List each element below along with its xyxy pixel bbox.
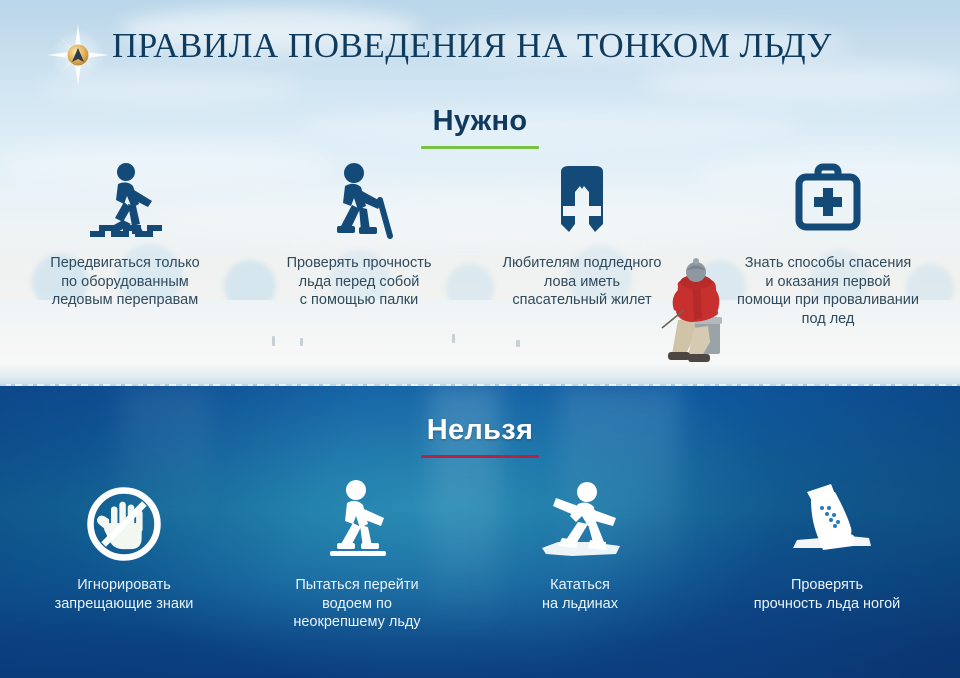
person-walking-thin-ice-icon xyxy=(314,478,400,564)
caption-line: Передвигаться только xyxy=(50,254,199,273)
caption-line: Проверять прочность xyxy=(287,254,432,273)
allowed-item-3-caption: Любителям подледного лова иметь спасател… xyxy=(503,254,662,310)
forbidden-item-3: Кататься на льдинах xyxy=(466,478,694,632)
forbidden-item-1-caption: Игнорировать запрещающие знаки xyxy=(55,576,194,613)
first-aid-kit-icon xyxy=(785,160,871,242)
forbidden-item-2: Пытаться перейти водоем по неокрепшему л… xyxy=(248,478,466,632)
caption-line: прочность льда ногой xyxy=(754,595,901,614)
allowed-actions-row: Передвигаться только по оборудованным ле… xyxy=(0,160,960,328)
caption-line: Знать способы спасения xyxy=(737,254,919,273)
caption-line: льда перед собой xyxy=(287,273,432,292)
caption-line: спасательный жилет xyxy=(503,291,662,310)
caption-line: помощи при проваливании xyxy=(737,291,919,310)
caption-line: на льдинах xyxy=(542,595,618,614)
caption-line: Любителям подледного xyxy=(503,254,662,273)
ice-edge-decor xyxy=(0,366,960,386)
caption-line: ледовым переправам xyxy=(50,291,199,310)
forbidden-item-4-caption: Проверять прочность льда ногой xyxy=(754,576,901,613)
allowed-item-4: Знать способы спасения и оказания первой… xyxy=(696,160,960,328)
section-heading-nuzhno-label: Нужно xyxy=(433,106,528,142)
caption-line: Пытаться перейти xyxy=(293,576,420,595)
section-heading-nelzya: Нельзя xyxy=(0,415,960,458)
caption-line: запрещающие знаки xyxy=(55,595,194,614)
distant-figure-decor xyxy=(300,338,303,346)
poster-header: ПРАВИЛА ПОВЕДЕНИЯ НА ТОНКОМ ЛЬДУ xyxy=(0,0,960,96)
allowed-item-1: Передвигаться только по оборудованным ле… xyxy=(0,160,250,328)
poster-root: ПРАВИЛА ПОВЕДЕНИЯ НА ТОНКОМ ЛЬДУ Нужно xyxy=(0,0,960,678)
caption-line: Проверять xyxy=(754,576,901,595)
distant-figure-decor xyxy=(272,336,275,346)
forbidden-item-3-caption: Кататься на льдинах xyxy=(542,576,618,613)
forbidden-item-1: Игнорировать запрещающие знаки xyxy=(0,478,248,632)
caption-line: неокрепшему льду xyxy=(293,613,420,632)
caption-line: водоем по xyxy=(293,595,420,614)
person-riding-ice-floe-icon xyxy=(532,478,628,564)
forbidden-actions-row: Игнорировать запрещающие знаки xyxy=(0,478,960,632)
no-entry-hand-icon xyxy=(84,478,164,564)
compass-star-emblem-icon xyxy=(47,24,109,86)
allowed-item-4-caption: Знать способы спасения и оказания первой… xyxy=(737,254,919,328)
person-with-stick-icon xyxy=(316,160,402,242)
caption-line: лова иметь xyxy=(503,273,662,292)
caption-line: по оборудованным xyxy=(50,273,199,292)
life-vest-icon xyxy=(539,160,625,242)
caption-line: Игнорировать xyxy=(55,576,194,595)
allowed-item-2: Проверять прочность льда перед собой с п… xyxy=(250,160,468,328)
section-heading-nelzya-label: Нельзя xyxy=(427,415,533,451)
distant-figure-decor xyxy=(452,334,455,343)
caption-line: с помощью палки xyxy=(287,291,432,310)
caption-line: под лед xyxy=(737,310,919,329)
allowed-item-1-caption: Передвигаться только по оборудованным ле… xyxy=(50,254,199,310)
section-rule-red xyxy=(421,455,539,458)
page-title: ПРАВИЛА ПОВЕДЕНИЯ НА ТОНКОМ ЛЬДУ xyxy=(112,26,932,66)
allowed-item-3: Любителям подледного лова иметь спасател… xyxy=(468,160,696,328)
boot-breaking-ice-icon xyxy=(777,478,877,564)
caption-line: и оказания первой xyxy=(737,273,919,292)
distant-figure-decor xyxy=(516,340,520,347)
person-walking-on-cracked-ice-icon xyxy=(82,160,168,242)
allowed-item-2-caption: Проверять прочность льда перед собой с п… xyxy=(287,254,432,310)
forbidden-item-2-caption: Пытаться перейти водоем по неокрепшему л… xyxy=(293,576,420,632)
caption-line: Кататься xyxy=(542,576,618,595)
forbidden-item-4: Проверять прочность льда ногой xyxy=(694,478,960,632)
section-rule-green xyxy=(421,146,539,149)
section-heading-nuzhno: Нужно xyxy=(0,106,960,149)
